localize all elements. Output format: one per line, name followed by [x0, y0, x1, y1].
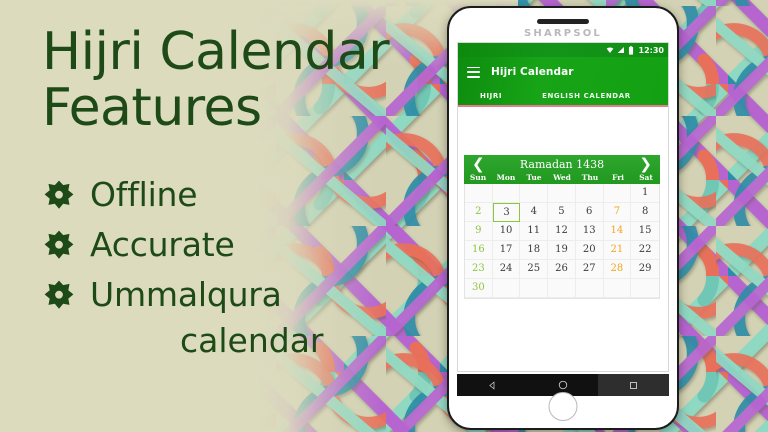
- calendar-day-3[interactable]: 3: [493, 203, 521, 222]
- wifi-icon: [606, 46, 614, 54]
- calendar-day-label: 20: [583, 244, 596, 255]
- star-bullet-icon: [44, 180, 74, 210]
- calendar-widget: ❮ Ramadan 1438 ❯ Sun Mon Tue Wed Thu Fri…: [464, 155, 660, 299]
- calendar-day-label: 4: [531, 206, 537, 217]
- calendar-day-22[interactable]: 22: [631, 241, 659, 260]
- calendar-day-24[interactable]: 24: [493, 260, 521, 279]
- calendar-day-label: 14: [611, 225, 624, 236]
- calendar-day-label: 30: [472, 282, 485, 293]
- weekday-fri: Fri: [604, 173, 632, 182]
- list-item: Ummalqura: [44, 276, 424, 314]
- hamburger-icon[interactable]: [467, 67, 480, 78]
- calendar-day-label: 7: [614, 206, 620, 217]
- app-title: Hijri Calendar: [491, 66, 574, 78]
- calendar-day-11[interactable]: 11: [520, 222, 548, 241]
- app-bar-top: Hijri Calendar: [458, 57, 668, 87]
- calendar-day-4[interactable]: 4: [520, 203, 548, 222]
- calendar-day-21[interactable]: 21: [604, 241, 632, 260]
- status-bar: 12:30: [458, 43, 668, 57]
- status-time: 12:30: [639, 46, 664, 55]
- calendar-day-label: 28: [611, 263, 624, 274]
- feature-label: Offline: [90, 176, 197, 214]
- calendar-day-label: 24: [500, 263, 513, 274]
- list-item: Accurate: [44, 226, 424, 264]
- calendar-cell-empty: 0: [576, 279, 604, 298]
- calendar-day-label: 12: [555, 225, 568, 236]
- calendar-cell-empty: 0: [548, 279, 576, 298]
- calendar-header: ❮ Ramadan 1438 ❯ Sun Mon Tue Wed Thu Fri…: [464, 155, 660, 184]
- calendar-day-label: 21: [611, 244, 624, 255]
- calendar-day-label: 1: [642, 187, 648, 198]
- calendar-day-17[interactable]: 17: [493, 241, 521, 260]
- recents-square-icon[interactable]: [598, 374, 669, 396]
- feature-label-continued: calendar: [180, 322, 424, 360]
- calendar-day-1[interactable]: 1: [631, 184, 659, 203]
- poster-canvas: Hijri Calendar Features Offline Accurate…: [0, 0, 768, 432]
- calendar-cell-empty: 0: [604, 184, 632, 203]
- calendar-cell-empty: 0: [465, 184, 493, 203]
- calendar-cell-empty: 0: [493, 184, 521, 203]
- calendar-day-13[interactable]: 13: [576, 222, 604, 241]
- weekday-mon: Mon: [492, 173, 520, 182]
- phone-brand-label: SHARPSOL: [449, 28, 677, 39]
- page-title: Hijri Calendar Features: [42, 24, 442, 136]
- calendar-month-row: ❮ Ramadan 1438 ❯: [464, 155, 660, 173]
- calendar-day-15[interactable]: 15: [631, 222, 659, 241]
- weekday-wed: Wed: [548, 173, 576, 182]
- calendar-day-label: 13: [583, 225, 596, 236]
- tab-hijri[interactable]: HIJRI: [480, 92, 502, 100]
- calendar-day-6[interactable]: 6: [576, 203, 604, 222]
- calendar-day-26[interactable]: 26: [548, 260, 576, 279]
- calendar-day-label: 10: [500, 225, 513, 236]
- calendar-day-label: 19: [555, 244, 568, 255]
- tab-bar: HIJRI ENGLISH CALENDAR: [458, 87, 668, 105]
- list-item: Offline: [44, 176, 424, 214]
- calendar-day-label: 3: [503, 207, 509, 218]
- earpiece-speaker: [537, 19, 589, 24]
- calendar-day-label: 17: [500, 244, 513, 255]
- calendar-day-label: 5: [558, 206, 564, 217]
- calendar-day-14[interactable]: 14: [604, 222, 632, 241]
- calendar-day-2[interactable]: 2: [465, 203, 493, 222]
- next-month-button[interactable]: ❯: [639, 157, 652, 172]
- calendar-day-20[interactable]: 20: [576, 241, 604, 260]
- calendar-day-30[interactable]: 30: [465, 279, 493, 298]
- tab-english-calendar[interactable]: ENGLISH CALENDAR: [542, 92, 631, 100]
- calendar-month-title: Ramadan 1438: [520, 158, 604, 171]
- calendar-day-label: 29: [639, 263, 652, 274]
- phone-mockup: SHARPSOL 12:30: [447, 6, 679, 430]
- calendar-day-label: 27: [583, 263, 596, 274]
- calendar-cell-empty: 0: [576, 184, 604, 203]
- calendar-cell-empty: 0: [548, 184, 576, 203]
- calendar-day-9[interactable]: 9: [465, 222, 493, 241]
- star-bullet-icon: [44, 280, 74, 310]
- weekday-header-row: Sun Mon Tue Wed Thu Fri Sat: [464, 173, 660, 184]
- calendar-day-5[interactable]: 5: [548, 203, 576, 222]
- calendar-day-8[interactable]: 8: [631, 203, 659, 222]
- calendar-cell-empty: 0: [520, 184, 548, 203]
- calendar-day-16[interactable]: 16: [465, 241, 493, 260]
- calendar-grid: 0000001234567891011121314151617181920212…: [464, 184, 660, 299]
- calendar-day-label: 2: [475, 206, 481, 217]
- feature-label: Ummalqura: [90, 276, 282, 314]
- calendar-day-label: 9: [475, 225, 481, 236]
- weekday-thu: Thu: [576, 173, 604, 182]
- calendar-day-label: 8: [642, 206, 648, 217]
- calendar-day-label: 26: [555, 263, 568, 274]
- signal-icon: [617, 46, 625, 54]
- calendar-day-label: 11: [527, 225, 540, 236]
- calendar-day-28[interactable]: 28: [604, 260, 632, 279]
- calendar-cell-empty: 0: [604, 279, 632, 298]
- weekday-tue: Tue: [520, 173, 548, 182]
- app-bar: Hijri Calendar HIJRI ENGLISH CALENDAR: [458, 57, 668, 107]
- physical-home-button[interactable]: [549, 392, 578, 421]
- calendar-day-7[interactable]: 7: [604, 203, 632, 222]
- calendar-day-label: 16: [472, 244, 485, 255]
- calendar-cell-empty: 0: [631, 279, 659, 298]
- status-icons: 12:30: [606, 46, 664, 55]
- calendar-day-label: 6: [586, 206, 592, 217]
- weekday-sat: Sat: [632, 173, 660, 182]
- calendar-day-label: 18: [527, 244, 540, 255]
- feature-list: Offline Accurate Ummalqura calendar: [44, 176, 424, 360]
- calendar-day-18[interactable]: 18: [520, 241, 548, 260]
- calendar-day-27[interactable]: 27: [576, 260, 604, 279]
- prev-month-button[interactable]: ❮: [472, 157, 485, 172]
- weekday-sun: Sun: [464, 173, 492, 182]
- calendar-day-29[interactable]: 29: [631, 260, 659, 279]
- star-bullet-icon: [44, 230, 74, 260]
- calendar-day-23[interactable]: 23: [465, 260, 493, 279]
- calendar-day-label: 15: [639, 225, 652, 236]
- screen-content: ❮ Ramadan 1438 ❯ Sun Mon Tue Wed Thu Fri…: [458, 107, 668, 373]
- calendar-day-label: 22: [639, 244, 652, 255]
- home-circle-icon[interactable]: [528, 380, 599, 390]
- back-triangle-icon[interactable]: [457, 381, 528, 390]
- phone-screen: 12:30 Hijri Calendar HIJRI ENGLISH CALEN…: [457, 42, 669, 372]
- battery-icon: [628, 46, 634, 55]
- calendar-cell-empty: 0: [493, 279, 521, 298]
- calendar-day-12[interactable]: 12: [548, 222, 576, 241]
- calendar-day-19[interactable]: 19: [548, 241, 576, 260]
- calendar-day-25[interactable]: 25: [520, 260, 548, 279]
- calendar-day-label: 23: [472, 263, 485, 274]
- headline-line-2: Features: [42, 80, 442, 136]
- calendar-day-label: 25: [527, 263, 540, 274]
- headline-line-1: Hijri Calendar: [42, 22, 389, 82]
- calendar-cell-empty: 0: [520, 279, 548, 298]
- calendar-day-10[interactable]: 10: [493, 222, 521, 241]
- feature-label: Accurate: [90, 226, 235, 264]
